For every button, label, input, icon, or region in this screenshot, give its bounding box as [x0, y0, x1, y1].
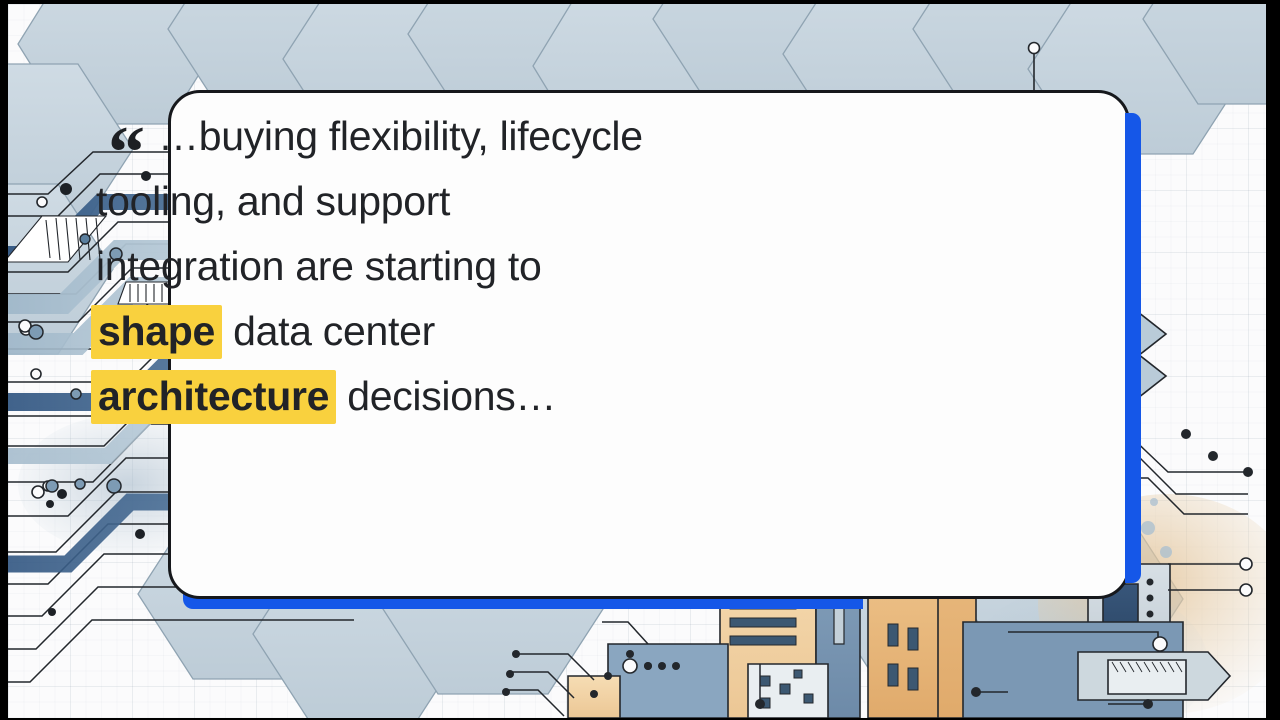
slide-canvas: “ …buying flexibility, lifecycle tooling… — [8, 4, 1266, 718]
quote-text: …buying flexibility, lifecycle tooling, … — [96, 104, 736, 429]
quote-line-2: tooling, and support — [96, 169, 736, 234]
quote-line-4: shape data center — [96, 299, 736, 364]
slide-stage: “ …buying flexibility, lifecycle tooling… — [0, 0, 1280, 720]
highlight-architecture: architecture — [91, 370, 336, 424]
card-right-accent-bar — [1125, 113, 1141, 583]
quote-mark-icon: “ — [108, 116, 142, 190]
quote-line-1: …buying flexibility, lifecycle — [96, 104, 736, 169]
quote-line-5: architecture decisions… — [96, 364, 736, 429]
quote-line-5-rest: decisions… — [336, 373, 556, 419]
quote-line-4-rest: data center — [222, 308, 435, 354]
highlight-shape: shape — [91, 305, 222, 359]
quote-line-3: integration are starting to — [96, 234, 736, 299]
